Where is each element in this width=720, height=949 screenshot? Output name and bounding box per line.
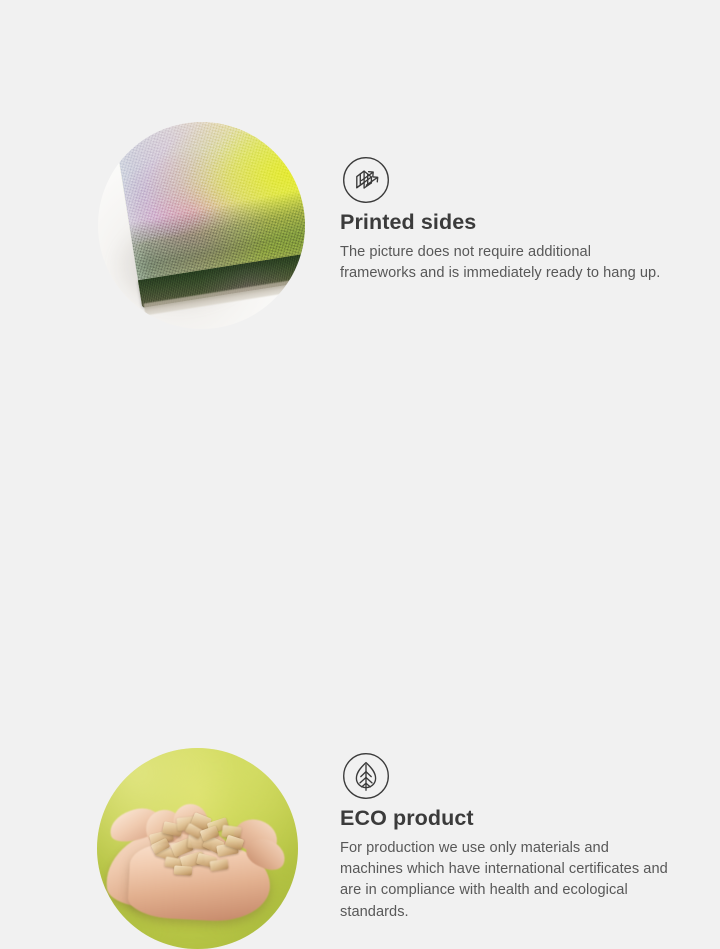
feature-text-printed-sides: Printed sides The picture does not requi… bbox=[340, 210, 670, 284]
leaf-icon bbox=[342, 752, 390, 800]
canvas-scene bbox=[98, 122, 305, 329]
feature-description: For production we use only materials and… bbox=[340, 838, 670, 923]
hands-wood-chips-photo bbox=[97, 748, 298, 949]
canvas-print-corner-photo bbox=[98, 122, 305, 329]
feature-description: The picture does not require additional … bbox=[340, 242, 670, 285]
wood-chip bbox=[174, 865, 193, 875]
canvas-wrap-arrows-icon bbox=[342, 156, 390, 204]
feature-text-eco-product: ECO product For production we use only m… bbox=[340, 806, 670, 923]
wood-chip-pile bbox=[147, 806, 260, 882]
photo-disc-2 bbox=[97, 748, 298, 949]
canvas-block bbox=[113, 122, 305, 319]
feature-title: ECO product bbox=[340, 806, 670, 832]
feature-eco-product: ECO product For production we use only m… bbox=[0, 360, 720, 720]
eco-scene bbox=[97, 748, 298, 949]
photo-disc-1 bbox=[98, 122, 305, 329]
feature-printed-sides: Printed sides The picture does not requi… bbox=[0, 0, 720, 360]
feature-title: Printed sides bbox=[340, 210, 670, 236]
product-features-page: Printed sides The picture does not requi… bbox=[0, 0, 720, 720]
wood-chip bbox=[210, 859, 229, 871]
